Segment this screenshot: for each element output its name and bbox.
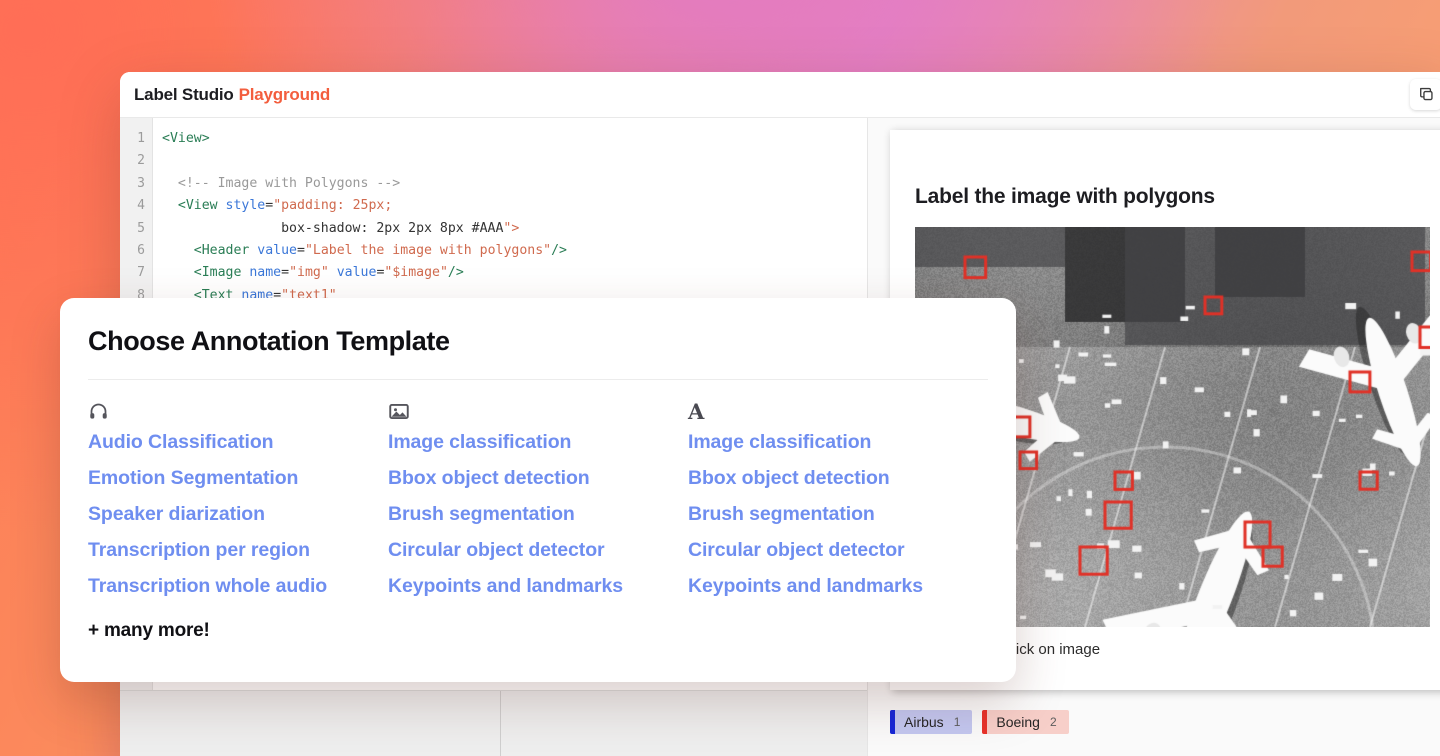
editor-line-number: 3 xyxy=(120,173,145,195)
column-icon-wrap: A xyxy=(688,398,988,424)
template-link[interactable]: Bbox object detection xyxy=(688,460,988,496)
headphones-icon xyxy=(88,401,109,422)
annotation-template-modal: Choose Annotation Template Audio Classif… xyxy=(60,298,1016,682)
template-link[interactable]: Circular object detector xyxy=(388,532,688,568)
template-link[interactable]: Image classification xyxy=(388,424,688,460)
template-link[interactable]: Emotion Segmentation xyxy=(88,460,388,496)
template-link[interactable]: Circular object detector xyxy=(688,532,988,568)
label-name: Boeing xyxy=(996,714,1040,730)
template-link[interactable]: Transcription whole audio xyxy=(88,568,388,604)
editor-line-number: 5 xyxy=(120,218,145,240)
template-link[interactable]: Brush segmentation xyxy=(688,496,988,532)
editor-code-line: <Header value="Label the image with poly… xyxy=(162,240,867,262)
app-title: Label StudioPlayground xyxy=(134,85,330,105)
editor-code-line: <View> xyxy=(162,128,867,150)
copy-icon xyxy=(1418,86,1435,103)
editor-line-number: 6 xyxy=(120,240,145,262)
editor-line-number: 1 xyxy=(120,128,145,150)
template-link[interactable]: Keypoints and landmarks xyxy=(688,568,988,604)
editor-code-line: <View style="padding: 25px; xyxy=(162,195,867,217)
image-icon xyxy=(388,401,410,422)
preview-header: Label the image with polygons xyxy=(915,185,1425,209)
template-link[interactable]: Speaker diarization xyxy=(88,496,388,532)
label-color-bar xyxy=(982,710,987,734)
editor-line-number: 7 xyxy=(120,262,145,284)
label-chip[interactable]: Airbus1 xyxy=(890,710,972,734)
label-chips: Airbus1Boeing2 xyxy=(890,710,1069,734)
template-link[interactable]: Keypoints and landmarks xyxy=(388,568,688,604)
modal-title: Choose Annotation Template xyxy=(88,326,988,380)
json-strip-divider xyxy=(500,691,501,756)
template-link[interactable]: Bbox object detection xyxy=(388,460,688,496)
app-title-main: Label Studio xyxy=(134,85,234,104)
editor-line-number: 2 xyxy=(120,150,145,172)
label-chip[interactable]: Boeing2 xyxy=(982,710,1068,734)
app-header: Label StudioPlayground xyxy=(120,72,1440,117)
editor-code-line xyxy=(162,150,867,172)
editor-line-number: 4 xyxy=(120,195,145,217)
json-preview-strip[interactable]: "image": "https://app.heartex.ai/static/… xyxy=(120,690,867,756)
template-column-2: AImage classificationBbox object detecti… xyxy=(688,398,988,604)
editor-code-line: <Image name="img" value="$image"/> xyxy=(162,262,867,284)
editor-code-line: <!-- Image with Polygons --> xyxy=(162,173,867,195)
label-hotkey: 1 xyxy=(954,715,961,729)
copy-button[interactable] xyxy=(1410,79,1440,110)
template-columns: Audio ClassificationEmotion Segmentation… xyxy=(88,380,988,604)
many-more-label: + many more! xyxy=(88,620,988,642)
template-link[interactable]: Image classification xyxy=(688,424,988,460)
label-color-bar xyxy=(890,710,895,734)
editor-code-line: box-shadow: 2px 2px 8px #AAA"> xyxy=(162,218,867,240)
text-a-icon: A xyxy=(688,401,704,422)
template-link[interactable]: Transcription per region xyxy=(88,532,388,568)
template-column-0: Audio ClassificationEmotion Segmentation… xyxy=(88,398,388,604)
column-icon-wrap xyxy=(388,398,688,424)
label-hotkey: 2 xyxy=(1050,715,1057,729)
template-link[interactable]: Brush segmentation xyxy=(388,496,688,532)
app-title-accent: Playground xyxy=(239,85,331,104)
template-column-1: Image classificationBbox object detectio… xyxy=(388,398,688,604)
template-link[interactable]: Audio Classification xyxy=(88,424,388,460)
column-icon-wrap xyxy=(88,398,388,424)
label-name: Airbus xyxy=(904,714,944,730)
